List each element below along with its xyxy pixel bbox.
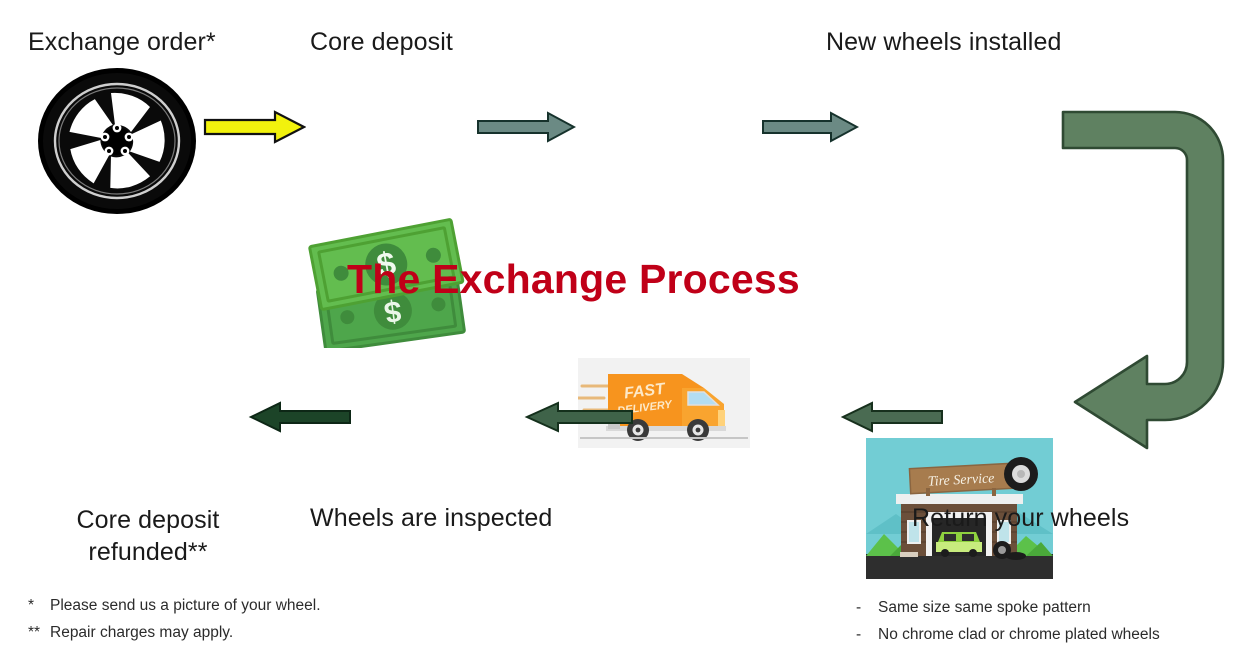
arrow-truck-to-shop-icon xyxy=(761,110,859,144)
step-label-return-your-wheels: Return your wheels xyxy=(912,504,1129,533)
arrow-order-to-deposit-icon xyxy=(203,110,306,144)
label-line-2: refunded** xyxy=(88,538,207,566)
arrow-truck-to-inspected-icon xyxy=(524,400,634,434)
exchange-process-infographic: Exchange order* xyxy=(0,0,1250,666)
footnote-text: Please send us a picture of your wheel. xyxy=(50,597,321,614)
footnote-mark: ** xyxy=(28,619,50,646)
footnote-mark: - xyxy=(856,594,878,621)
step-label-wheels-inspected: Wheels are inspected xyxy=(310,504,552,533)
arrow-shop-to-return-icon xyxy=(1055,110,1230,460)
footnote-text: Repair charges may apply. xyxy=(50,624,233,641)
footnote-mark: * xyxy=(28,592,50,619)
footnote-text: No chrome clad or chrome plated wheels xyxy=(878,626,1160,643)
arrow-inspected-to-refund-icon xyxy=(248,400,352,434)
arrow-deposit-to-truck-icon xyxy=(476,110,576,144)
footnotes-right: -Same size same spoke pattern -No chrome… xyxy=(856,594,1160,648)
page-title: The Exchange Process xyxy=(347,256,800,303)
wheel-icon xyxy=(38,68,196,214)
step-label-exchange-order: Exchange order* xyxy=(28,28,216,57)
step-label-core-deposit-refunded: Core deposit refunded** xyxy=(40,504,256,568)
label-line-1: Core deposit xyxy=(77,506,220,534)
footnote-item: -Same size same spoke pattern xyxy=(856,594,1160,621)
footnotes-left: *Please send us a picture of your wheel.… xyxy=(28,592,321,646)
step-label-new-wheels-installed: New wheels installed xyxy=(826,28,1061,57)
footnote-mark: - xyxy=(856,621,878,648)
footnote-text: Same size same spoke pattern xyxy=(878,599,1091,616)
arrow-return-to-truck-icon xyxy=(840,400,944,434)
footnote-item: **Repair charges may apply. xyxy=(28,619,321,646)
footnote-item: -No chrome clad or chrome plated wheels xyxy=(856,621,1160,648)
step-label-core-deposit: Core deposit xyxy=(310,28,453,57)
footnote-item: *Please send us a picture of your wheel. xyxy=(28,592,321,619)
